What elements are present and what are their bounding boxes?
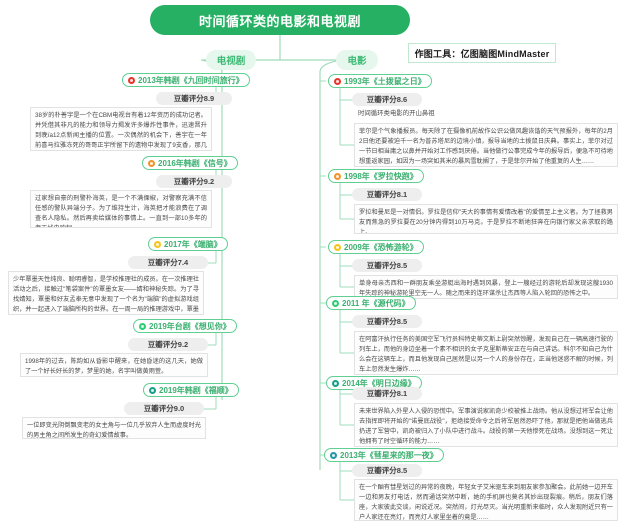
movie-note-3-text: 单身母亲杰西和一群朋友乘坐游艇出海时遇到风暴，登上一艘经过的游轮后却发现这艘19… <box>359 280 613 297</box>
root-title: 时间循环类的电影和电视剧 <box>199 11 361 30</box>
movie-score-4-text: 豆瓣评分8.5 <box>367 316 407 327</box>
movie-note-5-text: 未来世界陷入外星人入侵的恐慌中。军事演说家凯奇少校被推上战场。他从没想过将军会让… <box>359 408 613 445</box>
tv-topic-1[interactable]: 2013年韩剧《九回时间旅行》 <box>122 73 250 87</box>
tv-topic-5-title: 2019年韩剧《福顺》 <box>159 385 233 396</box>
badge-number-icon <box>332 380 339 387</box>
tv-score-5-text: 豆瓣评分9.0 <box>144 403 184 414</box>
tool-watermark: 作图工具：亿图脑图MindMaster <box>408 43 556 63</box>
movie-topic-4-title: 2011 年《源代码》 <box>342 298 410 309</box>
movie-score-3: 豆瓣评分8.5 <box>352 259 422 272</box>
tv-note-5: 一位即变光阴倒飘变老的女主角与一位几乎放弃人生而虚度时光的男主角之间所发生的奇幻… <box>22 417 206 439</box>
tool-watermark-text: 作图工具：亿图脑图MindMaster <box>415 47 550 60</box>
movie-note-1: 菲尔是个气象播报员。每天除了在摄像机前故作公识公做风趣诙谐的天气预报外，每年的2… <box>354 123 618 167</box>
movie-topic-2-title: 1998年《罗拉快跑》 <box>344 171 418 182</box>
tv-topic-3[interactable]: 2017年《端脑》 <box>148 237 228 251</box>
movie-topic-3-title: 2009年《恐怖游轮》 <box>344 242 418 253</box>
tv-note-1-text: 38岁的朴善宇是一个在CBM电视台有着12年资历的成功记者。并凭借其非凡的能力和… <box>35 112 207 151</box>
movie-score-4: 豆瓣评分8.5 <box>352 315 422 328</box>
badge-number-icon <box>154 241 161 248</box>
tv-note-2-text: 过家想自豪的刑警朴海英，是一个不满傈椒，对警察充满不信任感的警队异端分子。为了维… <box>35 195 207 228</box>
tv-score-2: 豆瓣评分9.2 <box>156 175 232 188</box>
movie-note-4-text: 在阿富汗执行任务的美国空军飞行员科特史蒂文斯上尉突然惊醒，发现自己在一辆高速行驶… <box>359 336 613 373</box>
tv-score-2-text: 豆瓣评分9.2 <box>174 176 214 187</box>
tv-topic-2-title: 2016年韩剧《信号》 <box>158 158 232 169</box>
movie-note-2-text: 罗拉和曼尼是一对情侣。罗拉是信仰"天大的事情有爱情改着"的爱情至上主义者。为了拯… <box>359 209 613 234</box>
tv-note-5-text: 一位即变光阴倒飘变老的女主角与一位几乎放弃人生而虚度时光的男主角之间所发生的奇幻… <box>27 422 201 439</box>
tv-note-4: 1998年的过去，陈韵如从昏影中醒来，在她昏迷的这几天，她做了一个好长好长的梦，… <box>20 353 208 377</box>
tv-score-3-text: 豆瓣评分7.4 <box>148 257 188 268</box>
branch-tv-label: 电视剧 <box>217 53 246 67</box>
movie-note-1-text: 菲尔是个气象播报员。每天除了在摄像机前故作公识公做风趣诙谐的天气预报外，每年的2… <box>359 128 613 165</box>
movie-score-5: 豆瓣评分8.1 <box>352 387 422 400</box>
movie-note-6-text: 在一个酗有彗星划过的异常的夜晚，年轻女子艾米驱车来到朋友家参加聚会。此前她一边开… <box>359 484 613 521</box>
movie-score-1: 豆瓣评分8.6 <box>352 93 422 106</box>
movie-score-3-text: 豆瓣评分8.5 <box>367 260 407 271</box>
badge-number-icon <box>128 77 135 84</box>
badge-number-icon <box>330 452 337 459</box>
branch-tv[interactable]: 电视剧 <box>206 50 256 70</box>
movie-score-1-text: 豆瓣评分8.6 <box>367 94 407 105</box>
movie-note-2: 罗拉和曼尼是一对情侣。罗拉是信仰"天大的事情有爱情改着"的爱情至上主义者。为了拯… <box>354 204 618 234</box>
tv-topic-1-title: 2013年韩剧《九回时间旅行》 <box>138 75 244 86</box>
tv-score-1-text: 豆瓣评分8.9 <box>174 93 214 104</box>
badge-number-icon <box>334 78 341 85</box>
tv-note-4-text: 1998年的过去，陈韵如从昏影中醒来，在她昏迷的这几天，她做了一个好长好长的梦，… <box>25 358 203 375</box>
movie-note-4: 在阿富汗执行任务的美国空军飞行员科特史蒂文斯上尉突然惊醒，发现自己在一辆高速行驶… <box>354 331 618 375</box>
badge-number-icon <box>139 323 146 330</box>
movie-topic-1-title: 1993年《土拨鼠之日》 <box>344 76 426 87</box>
tv-topic-3-title: 2017年《端脑》 <box>164 239 222 250</box>
tv-note-2: 过家想自豪的刑警朴海英，是一个不满傈椒，对警察充满不信任感的警队异端分子。为了维… <box>30 190 212 228</box>
movie-score-6-text: 豆瓣评分8.5 <box>367 465 407 476</box>
branch-movie[interactable]: 电影 <box>336 50 378 70</box>
movie-score-2: 豆瓣评分8.1 <box>352 188 422 201</box>
movie-score-6: 豆瓣评分8.5 <box>352 464 422 477</box>
tv-topic-2[interactable]: 2016年韩剧《信号》 <box>142 156 238 170</box>
movie-note-5: 未来世界陷入外星人入侵的恐慌中。军事演说家凯奇少校被推上战场。他从没想过将军会让… <box>354 403 618 447</box>
movie-topic-6-title: 2013年《彗星来的那一夜》 <box>340 450 438 461</box>
tv-topic-5[interactable]: 2019年韩剧《福顺》 <box>143 383 239 397</box>
badge-number-icon <box>149 387 156 394</box>
tv-note-3: 少年覃墨天性纯良、聪明睿智，是学校推理社的成员。在一次推理社活动之后，接触过"笔… <box>8 271 204 315</box>
badge-number-icon <box>332 300 339 307</box>
tv-score-3: 豆瓣评分7.4 <box>128 256 208 269</box>
movie-subtitle-1-text: 时间循环类电影的开山鼻祖 <box>358 110 435 117</box>
tv-score-5: 豆瓣评分9.0 <box>124 402 204 415</box>
tv-score-4-text: 豆瓣评分9.2 <box>148 339 188 350</box>
movie-topic-2[interactable]: 1998年《罗拉快跑》 <box>328 169 424 183</box>
movie-topic-6[interactable]: 2013年《彗星来的那一夜》 <box>324 448 444 462</box>
badge-number-icon <box>148 160 155 167</box>
tv-topic-4[interactable]: 2019年台剧《想见你》 <box>133 319 237 333</box>
badge-number-icon <box>334 173 341 180</box>
movie-topic-4[interactable]: 2011 年《源代码》 <box>326 296 416 310</box>
tv-topic-4-title: 2019年台剧《想见你》 <box>149 321 231 332</box>
branch-movie-label: 电影 <box>347 53 366 67</box>
movie-score-5-text: 豆瓣评分8.1 <box>367 388 407 399</box>
movie-subtitle-1: 时间循环类电影的开山鼻祖 <box>356 109 556 121</box>
badge-number-icon <box>334 244 341 251</box>
tv-note-1: 38岁的朴善宇是一个在CBM电视台有着12年资历的成功记者。并凭借其非凡的能力和… <box>30 107 212 151</box>
movie-topic-1[interactable]: 1993年《土拨鼠之日》 <box>328 74 432 88</box>
tv-note-3-text: 少年覃墨天性纯良、聪明睿智，是学校推理社的成员。在一次推理社活动之后，接触过"笔… <box>13 276 199 315</box>
tv-score-4: 豆瓣评分9.2 <box>128 338 208 351</box>
movie-note-6: 在一个酗有彗星划过的异常的夜晚，年轻女子艾米驱车来到朋友家参加聚会。此前她一边开… <box>354 479 618 521</box>
tv-score-1: 豆瓣评分8.9 <box>156 92 232 105</box>
mindmap-canvas: 时间循环类的电影和电视剧 电视剧 电影 作图工具：亿图脑图MindMaster … <box>0 0 630 522</box>
movie-score-2-text: 豆瓣评分8.1 <box>367 189 407 200</box>
root-topic[interactable]: 时间循环类的电影和电视剧 <box>150 5 410 35</box>
movie-topic-3[interactable]: 2009年《恐怖游轮》 <box>328 240 424 254</box>
